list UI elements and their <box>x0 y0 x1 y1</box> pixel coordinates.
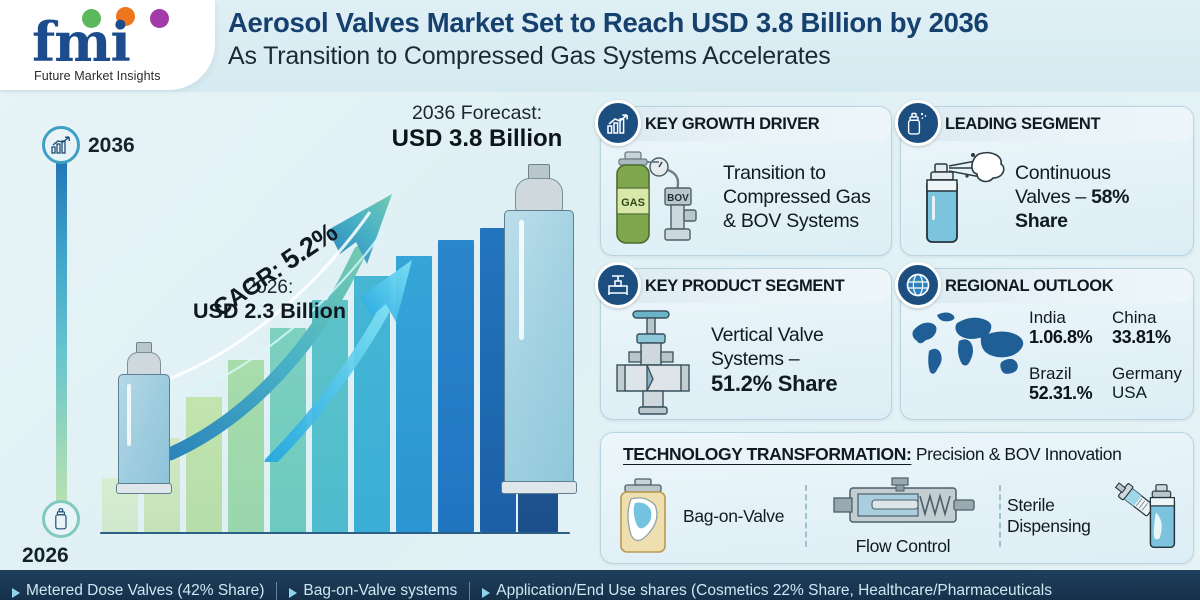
region-china: China 33.81% <box>1112 309 1189 363</box>
card-header: KEY PRODUCT SEGMENT <box>601 269 891 303</box>
svg-text:GAS: GAS <box>621 197 645 209</box>
footer-item[interactable]: Metered Dose Valves (42% Share) <box>0 570 276 600</box>
timeline-node-2026 <box>42 500 80 538</box>
technology-label: Sterile Dispensing <box>1007 495 1091 537</box>
technology-label: Bag-on-Valve <box>683 506 784 527</box>
card-header: LEADING SEGMENT <box>901 107 1193 141</box>
leading-segment-share: 58% <box>1091 186 1129 208</box>
footer-item-label: Application/End Use shares (Cosmetics 22… <box>496 582 1052 600</box>
card-header: KEY GROWTH DRIVER <box>601 107 891 141</box>
footer-item-label: Metered Dose Valves (42% Share) <box>26 582 264 600</box>
technology-heading: TECHNOLOGY TRANSFORMATION: Precision & B… <box>623 444 1183 465</box>
card-text: Transition to Compressed Gas & BOV Syste… <box>723 162 871 233</box>
forecast-year: 2036 Forecast: <box>352 102 602 125</box>
spray-can-2026 <box>118 342 170 494</box>
infographic-canvas: fmi Future Market Insights Aerosol Valve… <box>0 0 1200 600</box>
growth-bar-chart: 2026: USD 2.3 Billion 2036 Forecast: USD… <box>100 92 595 570</box>
timeline-rail <box>56 148 67 516</box>
syringe-spray-icon <box>1097 476 1185 556</box>
gas-cylinder-bov-icon: GAS BOV <box>609 148 717 248</box>
spraying-can-icon <box>907 146 1015 250</box>
bag-on-valve-icon <box>613 477 675 555</box>
spray-can-2036 <box>504 164 574 494</box>
technology-item-bag-on-valve[interactable]: Bag-on-Valve <box>613 475 799 557</box>
card-title: KEY PRODUCT SEGMENT <box>645 277 844 296</box>
header: fmi Future Market Insights Aerosol Valve… <box>0 0 1200 92</box>
card-body: India 1.06.8% China 33.81% Brazil 52.31.… <box>901 303 1193 387</box>
product-segment-line-2: Systems – <box>711 348 837 372</box>
triangle-bullet-icon <box>482 588 490 598</box>
sterile-line-1: Sterile <box>1007 495 1091 516</box>
growth-driver-line-3: & BOV Systems <box>723 210 871 234</box>
world-map-icon <box>907 307 1031 387</box>
flow-control-valve-icon <box>828 476 978 534</box>
region-stats-grid: India 1.06.8% China 33.81% Brazil 52.31.… <box>1029 309 1189 419</box>
card-body: Vertical Valve Systems – 51.2% Share <box>601 303 891 419</box>
spray-can-icon <box>54 508 68 530</box>
card-body: Continuous Valves – 58% Share <box>901 141 1193 255</box>
leading-segment-line-2: Valves – 58% <box>1015 186 1129 210</box>
sterile-line-2: Dispensing <box>1007 516 1091 537</box>
card-technology-transformation[interactable]: TECHNOLOGY TRANSFORMATION: Precision & B… <box>600 432 1194 564</box>
triangle-bullet-icon <box>12 588 20 598</box>
region-germany-usa: Germany USA <box>1112 365 1189 419</box>
region-india: India 1.06.8% <box>1029 309 1106 363</box>
growth-driver-line-2: Compressed Gas <box>723 186 871 210</box>
product-segment-line-1: Vertical Valve <box>711 324 837 348</box>
leading-segment-line-1: Continuous <box>1015 162 1129 186</box>
technology-heading-bold: TECHNOLOGY TRANSFORMATION: <box>623 444 911 464</box>
spray-can-icon <box>895 100 941 146</box>
card-text: Continuous Valves – 58% Share <box>1015 162 1129 233</box>
vertical-valve-icon <box>607 305 711 417</box>
region-brazil: Brazil 52.31.% <box>1029 365 1106 419</box>
technology-heading-rest: Precision & BOV Innovation <box>911 444 1121 464</box>
page-subtitle: As Transition to Compressed Gas Systems … <box>228 41 1188 72</box>
card-text: Vertical Valve Systems – 51.2% Share <box>711 324 837 398</box>
product-segment-line-3: 51.2% Share <box>711 371 837 398</box>
forecast-value-label: 2036 Forecast: USD 3.8 Billion <box>352 102 602 154</box>
valve-icon <box>595 262 641 308</box>
technology-divider <box>805 485 807 547</box>
card-title: KEY GROWTH DRIVER <box>645 115 819 134</box>
forecast-value: USD 3.8 Billion <box>352 125 602 154</box>
page-title: Aerosol Valves Market Set to Reach USD 3… <box>228 6 1188 40</box>
leading-segment-line-3: Share <box>1015 210 1129 234</box>
card-regional-outlook[interactable]: REGIONAL OUTLOOK <box>900 268 1194 420</box>
market-growth-chart-panel: 2036 2026 <box>0 92 595 570</box>
growth-chart-icon <box>51 136 71 154</box>
card-header: REGIONAL OUTLOOK <box>901 269 1193 303</box>
timeline-node-2036 <box>42 126 80 164</box>
triangle-bullet-icon <box>289 588 297 598</box>
globe-icon <box>895 262 941 308</box>
footer-item[interactable]: Application/End Use shares (Cosmetics 22… <box>470 570 1064 600</box>
start-value: USD 2.3 Billion <box>182 299 357 324</box>
footer-item[interactable]: Bag-on-Valve systems <box>277 570 469 600</box>
insight-cards: KEY GROWTH DRIVER GAS <box>598 96 1198 574</box>
year-timeline: 2036 2026 <box>44 112 78 552</box>
card-title: LEADING SEGMENT <box>945 115 1100 134</box>
technology-item-sterile-dispensing[interactable]: Sterile Dispensing <box>1007 475 1185 557</box>
logo-wordmark: fmi <box>32 15 202 69</box>
fmi-logo: fmi Future Market Insights <box>26 5 201 87</box>
technology-label: Flow Control <box>856 536 951 557</box>
card-body: GAS BOV Transition to Compressed Gas & B… <box>601 141 891 255</box>
title-block: Aerosol Valves Market Set to Reach USD 3… <box>228 6 1188 72</box>
card-leading-segment[interactable]: LEADING SEGMENT <box>900 106 1194 256</box>
card-key-growth-driver[interactable]: KEY GROWTH DRIVER GAS <box>600 106 892 256</box>
svg-text:BOV: BOV <box>667 193 689 204</box>
logo-tagline: Future Market Insights <box>34 69 214 83</box>
card-key-product-segment[interactable]: KEY PRODUCT SEGMENT <box>600 268 892 420</box>
growth-driver-line-1: Transition to <box>723 162 871 186</box>
footer-item-label: Bag-on-Valve systems <box>303 582 457 600</box>
card-title: REGIONAL OUTLOOK <box>945 277 1113 296</box>
footer-ticker: Metered Dose Valves (42% Share) Bag-on-V… <box>0 570 1200 600</box>
growth-chart-icon <box>595 100 641 146</box>
technology-divider <box>999 485 1001 547</box>
timeline-label-2026: 2026 <box>22 544 69 568</box>
technology-items: Bag-on-Valve Flow Control <box>613 475 1185 557</box>
chart-baseline-axis <box>100 532 570 535</box>
logo-plate: fmi Future Market Insights <box>0 0 215 90</box>
technology-item-flow-control[interactable]: Flow Control <box>813 475 993 557</box>
leading-segment-prefix: Valves – <box>1015 186 1091 208</box>
